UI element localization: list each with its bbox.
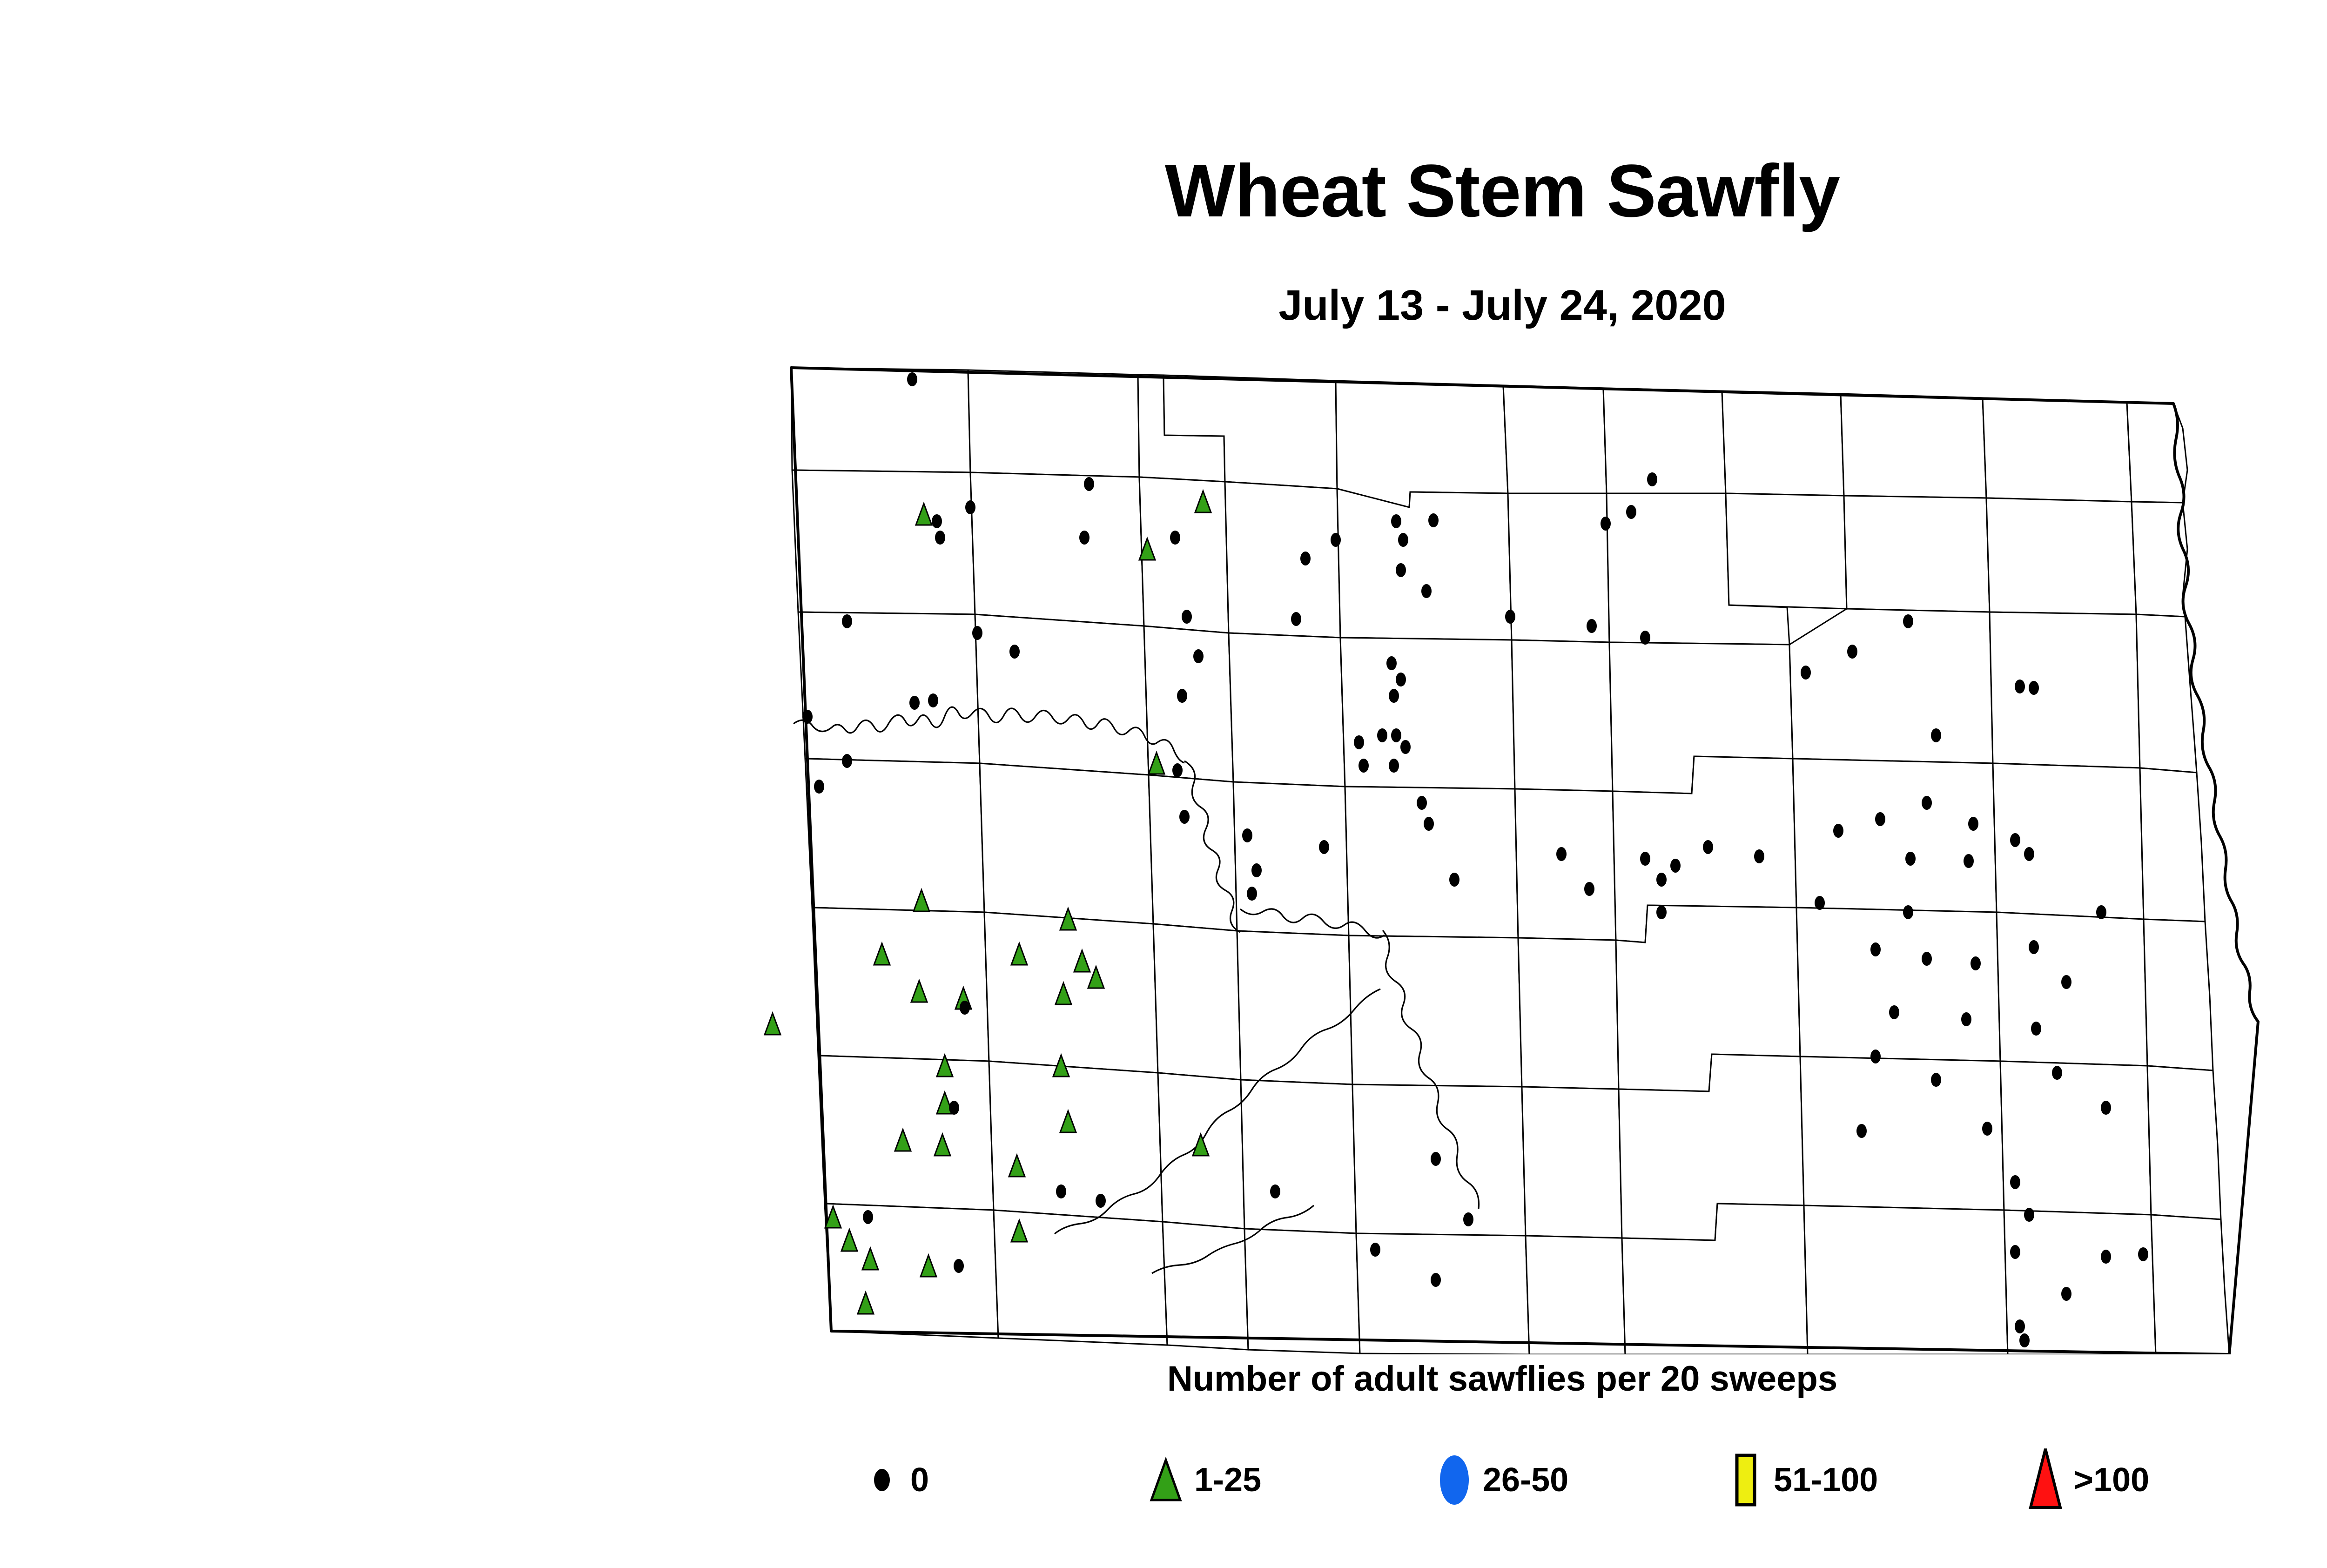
marker-black-dot [1170, 531, 1180, 545]
yellow-square-icon [1720, 1454, 1771, 1506]
legend-title: Number of adult sawflies per 20 sweeps [0, 1361, 2327, 1397]
marker-black-dot [1391, 728, 1401, 742]
black-dot-icon [856, 1454, 908, 1506]
marker-black-dot [1389, 759, 1399, 773]
marker-black-dot [1815, 896, 1825, 910]
marker-black-dot [1647, 472, 1657, 486]
marker-black-dot [1177, 689, 1187, 703]
marker-black-dot [1421, 584, 1432, 598]
marker-black-dot [1971, 956, 1981, 970]
marker-black-dot [1463, 1212, 1473, 1226]
marker-black-dot [1391, 514, 1401, 528]
marker-black-dot [1656, 905, 1667, 919]
north-dakota-county-map[interactable] [717, 354, 2327, 1354]
legend-label-0: 0 [910, 1463, 929, 1497]
marker-black-dot [954, 1259, 964, 1273]
marker-black-dot [1193, 649, 1204, 663]
marker-black-dot [2061, 1287, 2071, 1301]
marker-black-dot [1179, 810, 1190, 824]
marker-black-dot [1251, 863, 1262, 877]
marker-black-dot [1640, 852, 1650, 866]
marker-black-dot [842, 614, 852, 628]
marker-black-dot [1968, 817, 1978, 831]
marker-black-dot [1449, 873, 1459, 887]
marker-black-dot [1922, 952, 1932, 966]
marker-black-dot [1656, 873, 1667, 887]
marker-black-dot [1084, 477, 1094, 491]
marker-black-dot [1856, 1124, 1867, 1138]
marker-black-dot [932, 514, 942, 528]
marker-green-triangle [765, 1013, 780, 1035]
marker-black-dot [2015, 680, 2025, 693]
legend-item-3[interactable]: 51-100 [1720, 1443, 1878, 1517]
marker-black-dot [1319, 840, 1329, 854]
marker-black-dot [1431, 1152, 1441, 1166]
marker-black-dot [1982, 1122, 1992, 1136]
marker-black-dot [2138, 1247, 2148, 1261]
legend-item-1[interactable]: 1-25 [1140, 1443, 1261, 1517]
blue-circle-icon [1429, 1454, 1480, 1506]
marker-black-dot [1377, 728, 1387, 742]
legend-item-2[interactable]: 26-50 [1429, 1443, 1568, 1517]
marker-black-dot [1424, 817, 1434, 831]
marker-black-dot [1389, 689, 1399, 703]
marker-black-dot [2101, 1250, 2111, 1264]
marker-black-dot [814, 780, 824, 794]
red-triangle-icon [2020, 1454, 2071, 1506]
marker-black-dot [2010, 833, 2020, 847]
marker-black-dot [863, 1210, 873, 1224]
marker-black-dot [1431, 1273, 1441, 1287]
marker-black-dot [1400, 740, 1411, 754]
marker-black-dot [928, 693, 938, 707]
marker-black-dot [1754, 849, 1764, 863]
marker-black-dot [1931, 728, 1941, 742]
marker-black-dot [965, 500, 975, 514]
marker-black-dot [2024, 1208, 2034, 1222]
marker-black-dot [1903, 614, 1913, 628]
marker-black-dot [909, 696, 920, 710]
marker-black-dot [1370, 1243, 1380, 1257]
marker-black-dot [935, 531, 945, 545]
marker-black-dot [1870, 1050, 1881, 1063]
marker-black-dot [1905, 852, 1916, 866]
marker-black-dot [1870, 942, 1881, 956]
marker-black-dot [802, 710, 813, 724]
marker-black-dot [1505, 610, 1515, 624]
marker-black-dot [2031, 1022, 2041, 1036]
marker-black-dot [1396, 563, 1406, 577]
marker-black-dot [1009, 645, 1020, 659]
legend-label-1: 1-25 [1194, 1463, 1261, 1497]
county-boundaries [791, 368, 2229, 1354]
marker-black-dot [1931, 1073, 1941, 1087]
marker-black-dot [2061, 975, 2071, 989]
marker-black-dot [1670, 859, 1681, 873]
marker-black-dot [1096, 1194, 1106, 1208]
marker-black-dot [2029, 681, 2039, 695]
marker-black-dot [1079, 531, 1090, 545]
marker-black-dot [1640, 631, 1650, 645]
marker-black-dot [1428, 513, 1439, 527]
marker-black-dot [949, 1101, 959, 1115]
marker-black-dot [1270, 1184, 1280, 1198]
marker-black-dot [2096, 905, 2106, 919]
map-svg [717, 354, 2327, 1354]
marker-black-dot [1331, 533, 1341, 547]
marker-black-dot [907, 372, 917, 386]
marker-black-dot [1556, 847, 1567, 861]
legend-label-3: 51-100 [1774, 1463, 1878, 1497]
marker-black-dot [1964, 854, 1974, 868]
marker-black-dot [2019, 1333, 2030, 1347]
marker-black-dot [1300, 552, 1311, 565]
marker-black-dot [1056, 1184, 1066, 1198]
marker-black-dot [2052, 1066, 2062, 1080]
marker-black-dot [1922, 796, 1932, 810]
marker-black-dot [1601, 517, 1611, 531]
marker-black-dot [1396, 673, 1406, 686]
marker-black-dot [1242, 828, 1252, 842]
marker-black-dot [2015, 1319, 2025, 1333]
marker-black-dot [1847, 645, 1857, 659]
legend: 0 1-25 26-50 51-100 >100 [856, 1443, 2206, 1527]
green-triangle-icon [1140, 1454, 1191, 1506]
marker-black-dot [1247, 887, 1257, 901]
marker-black-dot [2010, 1245, 2020, 1259]
marker-black-dot [2101, 1101, 2111, 1115]
marker-black-dot [1291, 612, 1301, 626]
marker-black-dot [1801, 666, 1811, 680]
marker-black-dot [1903, 905, 1913, 919]
marker-black-dot [1626, 505, 1636, 519]
marker-black-dot [2024, 847, 2034, 861]
marker-black-dot [1875, 812, 1885, 826]
marker-black-dot [960, 1001, 970, 1015]
marker-black-dot [842, 754, 852, 768]
marker-black-dot [972, 626, 982, 640]
marker-black-dot [1961, 1012, 1971, 1026]
marker-black-dot [1587, 619, 1597, 633]
marker-black-dot [1359, 759, 1369, 773]
marker-black-dot [1354, 735, 1364, 749]
marker-black-dot [1889, 1005, 1899, 1019]
legend-item-0[interactable]: 0 [856, 1443, 929, 1517]
marker-black-dot [1172, 763, 1183, 777]
marker-black-dot [1417, 796, 1427, 810]
page-subtitle: July 13 - July 24, 2020 [0, 284, 2327, 327]
marker-black-dot [1386, 656, 1397, 670]
marker-black-dot [2010, 1175, 2020, 1189]
marker-black-dot [2029, 940, 2039, 954]
page-title: Wheat Stem Sawfly [0, 154, 2327, 228]
legend-item-4[interactable]: >100 [2020, 1443, 2149, 1517]
marker-black-dot [1182, 610, 1192, 624]
marker-black-dot [1584, 882, 1594, 896]
marker-black-dot [1703, 840, 1713, 854]
legend-label-2: 26-50 [1483, 1463, 1568, 1497]
marker-black-dot [1833, 824, 1843, 838]
sawfly-map-page: Wheat Stem Sawfly July 13 - July 24, 202… [0, 0, 2327, 1568]
legend-label-4: >100 [2074, 1463, 2149, 1497]
marker-black-dot [1398, 533, 1408, 547]
